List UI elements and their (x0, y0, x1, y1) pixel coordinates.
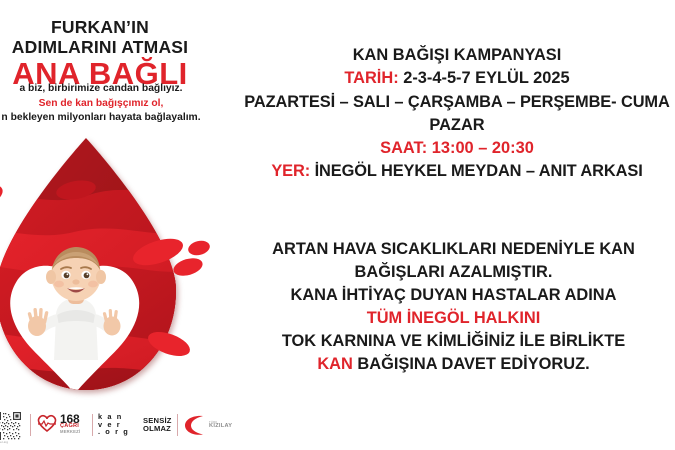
blood-donation-poster: FURKAN’IN ADIMLARINI ATMASI ANA BAĞLI a … (0, 0, 675, 450)
subline-2: Sen de kan bağışçımız ol, (0, 97, 232, 112)
headline-line-2: ADIMLARINI ATMASI (0, 38, 228, 58)
appeal-line-1: ARTAN HAVA SICAKLIKLARI NEDENİYLE KAN (232, 238, 675, 261)
call-center-sub: MERKEZİ (60, 430, 80, 434)
appeal-rest: BAĞIŞINA DAVET EDİYORUZ. (357, 355, 589, 373)
kanver-logo[interactable]: k a n v e r . o r g (98, 413, 129, 436)
date-value: 2-3-4-5-7 EYLÜL 2025 (403, 69, 569, 87)
event-line-time: SAAT: 13:00 – 20:30 (232, 137, 675, 160)
logo-divider-3 (177, 414, 178, 436)
venue-label: YER: (271, 162, 314, 180)
venue-value: İNEGÖL HEYKEL MEYDAN – ANIT ARKASI (315, 162, 643, 180)
subline-block: a biz, birbirimize candan bağlıyız. Sen … (0, 82, 232, 126)
event-details-block: KAN BAĞIŞI KAMPANYASI TARİH: 2-3-4-5-7 E… (232, 44, 675, 184)
appeal-kan-word: KAN (317, 355, 357, 373)
slogan-line-2: OLMAZ (143, 425, 172, 433)
slogan-sensiz-olmaz: SENSİZ OLMAZ (143, 417, 172, 433)
kanver-line-3: . o r g (98, 428, 129, 436)
logo-divider-2 (92, 414, 93, 436)
logo-bar: kanver.org 168 ÇAĞRI MERKEZİ k a n (0, 408, 232, 448)
event-line-venue: YER: İNEGÖL HEYKEL MEYDAN – ANIT ARKASI (232, 160, 675, 183)
kizilay-logo: TÜRK KIZILAY (183, 414, 232, 436)
appeal-line-5: TOK KARNINA VE KİMLİĞİNİZ İLE BİRLİKTE (232, 330, 675, 353)
event-line-3: PAZARTESİ – SALI – ÇARŞAMBA – PERŞEMBE- … (232, 91, 675, 114)
right-panel: KAN BAĞIŞI KAMPANYASI TARİH: 2-3-4-5-7 E… (232, 0, 675, 450)
headline-line-1: FURKAN’IN (0, 18, 228, 38)
baby-photo (26, 242, 122, 360)
call-center-logo: 168 ÇAĞRI MERKEZİ (36, 413, 80, 434)
appeal-line-6: KAN BAĞIŞINA DAVET EDİYORUZ. (232, 353, 675, 376)
appeal-line-highlight: TÜM İNEGÖL HALKINI (232, 307, 675, 330)
headline-block: FURKAN’IN ADIMLARINI ATMASI ANA BAĞLI (0, 18, 228, 91)
kizilay-name: KIZILAY (209, 424, 232, 430)
red-crescent-icon (183, 414, 207, 436)
date-label: TARİH: (344, 69, 403, 87)
logo-divider-1 (30, 414, 31, 436)
appeal-line-3: KANA İHTİYAÇ DUYAN HASTALAR ADINA (232, 284, 675, 307)
event-line-4: PAZAR (232, 114, 675, 137)
qr-caption: kanver.org (0, 441, 8, 444)
appeal-block: ARTAN HAVA SICAKLIKLARI NEDENİYLE KAN BA… (232, 238, 675, 376)
subline-3: n bekleyen milyonları hayata bağlayalım. (0, 111, 232, 126)
subline-1: a biz, birbirimize candan bağlıyız. (0, 82, 232, 97)
baby-illustration (26, 242, 122, 360)
left-panel: FURKAN’IN ADIMLARINI ATMASI ANA BAĞLI a … (0, 0, 232, 450)
call-center-text: 168 ÇAĞRI MERKEZİ (60, 413, 80, 434)
heart-line-icon (36, 413, 58, 433)
event-line-1: KAN BAĞIŞI KAMPANYASI (232, 44, 675, 67)
appeal-line-2: BAĞIŞLARI AZALMIŞTIR. (232, 261, 675, 284)
kizilay-text: TÜRK KIZILAY (209, 421, 232, 429)
qr-code-icon[interactable] (0, 411, 22, 441)
event-line-2: TARİH: 2-3-4-5-7 EYLÜL 2025 (232, 67, 675, 90)
